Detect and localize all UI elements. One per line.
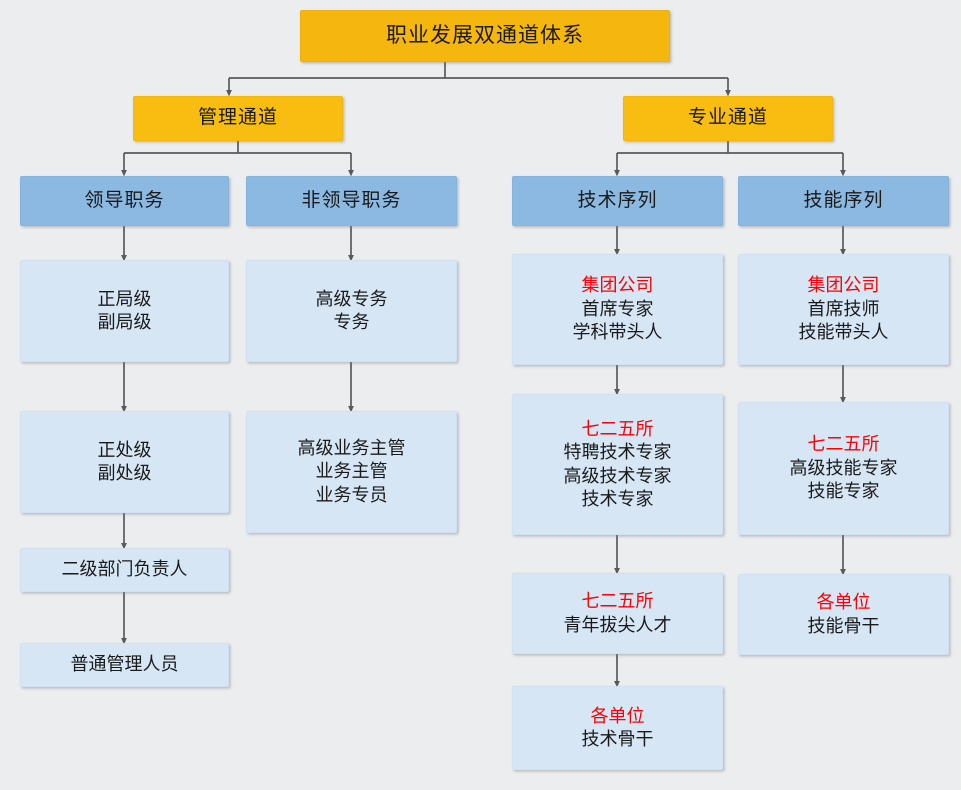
level-line: 普通管理人员 (71, 653, 179, 676)
level-line: 首席技师 (808, 298, 880, 321)
level-line: 特聘技术专家 (564, 441, 672, 464)
series-header-label: 技能序列 (803, 189, 883, 214)
level-line-accent: 七二五所 (582, 590, 654, 613)
level-line: 技术骨干 (582, 728, 654, 751)
level-line: 业务主管 (316, 460, 388, 483)
level-line: 高级技能专家 (790, 457, 898, 480)
channel-node-professional[interactable]: 专业通道 (623, 96, 833, 141)
root-node[interactable]: 职业发展双通道体系 (300, 10, 670, 62)
level-node[interactable]: 二级部门负责人 (20, 548, 229, 592)
level-line-accent: 各单位 (817, 591, 871, 614)
series-header-label: 领导职务 (84, 189, 164, 214)
level-node[interactable]: 高级专务 专务 (246, 260, 457, 362)
level-line: 技能骨干 (808, 615, 880, 638)
level-line: 业务专员 (316, 484, 388, 507)
level-line: 二级部门负责人 (62, 558, 188, 581)
level-node[interactable]: 集团公司 首席专家 学科带头人 (512, 254, 723, 365)
level-line: 高级技术专家 (564, 465, 672, 488)
level-line: 青年拔尖人才 (564, 614, 672, 637)
channel-label: 专业通道 (688, 106, 768, 131)
level-line-accent: 七二五所 (808, 433, 880, 456)
level-node[interactable]: 集团公司 首席技师 技能带头人 (738, 254, 949, 365)
level-line: 高级业务主管 (298, 437, 406, 460)
level-line-accent: 各单位 (591, 705, 645, 728)
series-header-leadership[interactable]: 领导职务 (20, 176, 229, 226)
series-header-label: 非领导职务 (301, 189, 401, 214)
level-node[interactable]: 正处级 副处级 (20, 411, 229, 513)
level-line: 技术专家 (582, 488, 654, 511)
channel-node-management[interactable]: 管理通道 (133, 96, 343, 141)
root-node-label: 职业发展双通道体系 (386, 22, 584, 49)
level-line: 高级专务 (316, 288, 388, 311)
level-node[interactable]: 各单位 技术骨干 (512, 686, 723, 770)
level-line: 副局级 (98, 311, 152, 334)
level-node[interactable]: 各单位 技能骨干 (738, 574, 949, 655)
level-node[interactable]: 七二五所 特聘技术专家 高级技术专家 技术专家 (512, 394, 723, 535)
level-node[interactable]: 正局级 副局级 (20, 260, 229, 362)
series-header-technical[interactable]: 技术序列 (512, 176, 723, 226)
level-line-accent: 集团公司 (808, 274, 880, 297)
org-chart-canvas: 职业发展双通道体系 管理通道 专业通道 领导职务 非领导职务 技术序列 技能序列… (0, 0, 961, 790)
series-header-non-leadership[interactable]: 非领导职务 (246, 176, 457, 226)
level-node[interactable]: 高级业务主管 业务主管 业务专员 (246, 411, 457, 533)
level-line: 首席专家 (582, 298, 654, 321)
level-line-accent: 七二五所 (582, 418, 654, 441)
level-line: 技能专家 (808, 480, 880, 503)
level-line-accent: 集团公司 (582, 274, 654, 297)
level-line: 技能带头人 (799, 321, 889, 344)
level-line: 副处级 (98, 462, 152, 485)
level-node[interactable]: 七二五所 青年拔尖人才 (512, 573, 723, 654)
series-header-skill[interactable]: 技能序列 (738, 176, 949, 226)
level-line: 正处级 (98, 439, 152, 462)
series-header-label: 技术序列 (577, 189, 657, 214)
channel-label: 管理通道 (198, 106, 278, 131)
level-line: 正局级 (98, 288, 152, 311)
level-line: 专务 (334, 311, 370, 334)
level-line: 学科带头人 (573, 321, 663, 344)
level-node[interactable]: 普通管理人员 (20, 643, 229, 687)
level-node[interactable]: 七二五所 高级技能专家 技能专家 (738, 402, 949, 535)
